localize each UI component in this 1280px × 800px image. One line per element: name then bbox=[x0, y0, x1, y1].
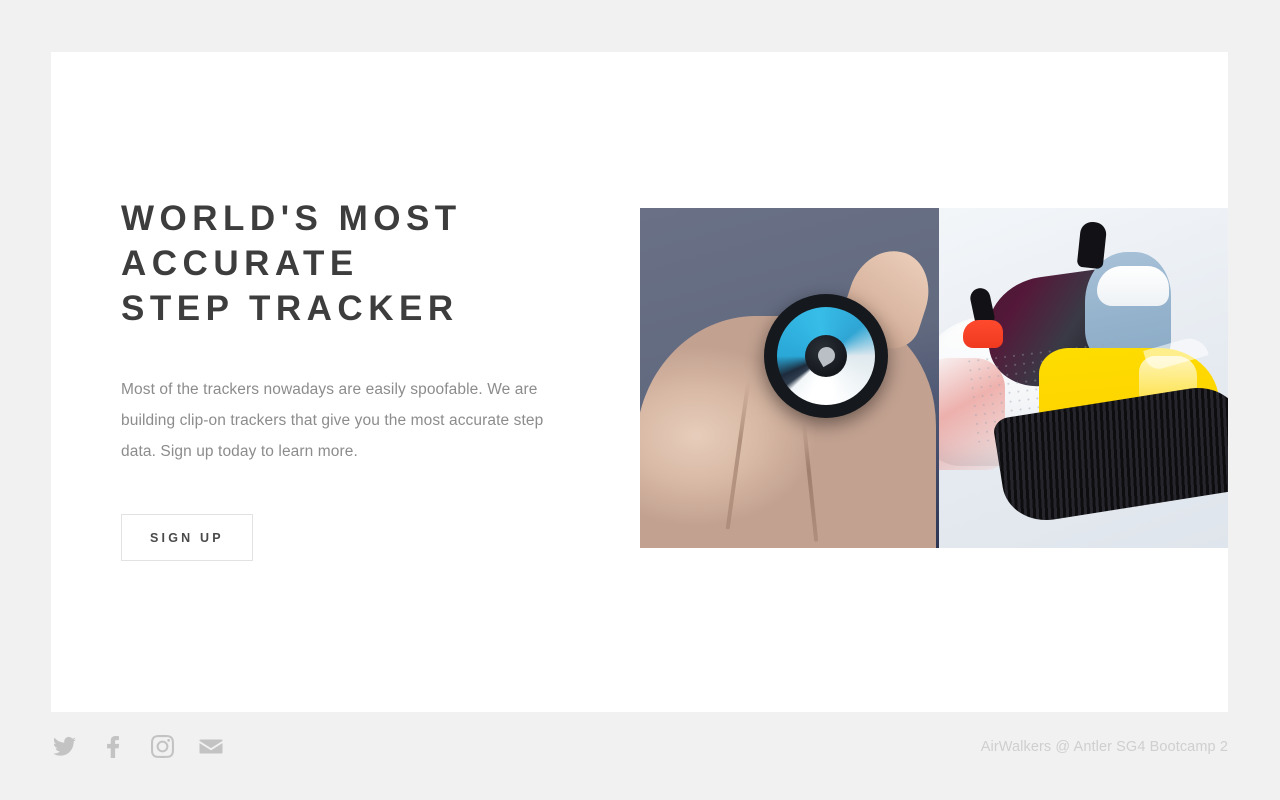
sneaker-heel-tab bbox=[1077, 221, 1108, 269]
instagram-icon[interactable] bbox=[150, 734, 174, 758]
watch-photo bbox=[640, 208, 939, 548]
twitter-icon[interactable] bbox=[52, 734, 76, 758]
smartwatch-shape bbox=[764, 294, 888, 418]
hero-card: WORLD'S MOST ACCURATE STEP TRACKER Most … bbox=[51, 52, 1228, 712]
social-links bbox=[52, 734, 223, 758]
sign-up-button[interactable]: SIGN UP bbox=[121, 514, 253, 561]
page-root: WORLD'S MOST ACCURATE STEP TRACKER Most … bbox=[0, 0, 1280, 800]
watch-marker bbox=[815, 344, 838, 367]
watch-dial bbox=[777, 307, 875, 405]
hero-image-pair bbox=[640, 208, 1228, 548]
page-title: WORLD'S MOST ACCURATE STEP TRACKER bbox=[121, 196, 641, 331]
sneaker-photo bbox=[939, 208, 1228, 548]
footer: AirWalkers @ Antler SG4 Bootcamp 2 bbox=[0, 712, 1280, 800]
sneaker-collar bbox=[1097, 266, 1169, 306]
watch-hub bbox=[805, 335, 847, 377]
hero-description: Most of the trackers nowadays are easily… bbox=[121, 374, 571, 467]
hero-text-column: WORLD'S MOST ACCURATE STEP TRACKER Most … bbox=[121, 196, 641, 561]
copyright-text: AirWalkers @ Antler SG4 Bootcamp 2 bbox=[981, 739, 1228, 755]
sneaker-red-accent bbox=[963, 320, 1003, 348]
email-icon[interactable] bbox=[199, 734, 223, 758]
hero-section: WORLD'S MOST ACCURATE STEP TRACKER Most … bbox=[51, 52, 1228, 712]
facebook-icon[interactable] bbox=[101, 734, 125, 758]
